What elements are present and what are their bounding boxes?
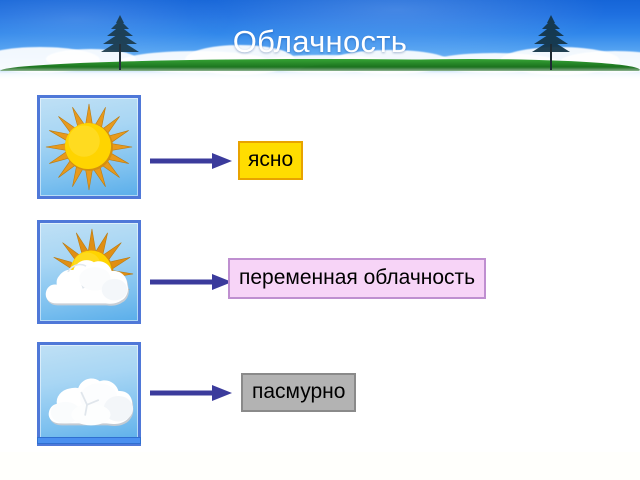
label-clear: ясно	[238, 141, 303, 180]
label-partly-cloudy: переменная облачность	[228, 258, 486, 299]
arrow-overcast	[150, 383, 232, 403]
weather-icon-box-clear	[37, 95, 141, 199]
label-clear-text: ясно	[248, 149, 293, 170]
arrow-partly	[150, 272, 232, 292]
footer-strip	[0, 452, 640, 480]
sun-icon	[40, 98, 138, 196]
arrow-clear	[150, 151, 232, 171]
weather-icon-box-overcast	[37, 342, 141, 446]
weather-icon-box-partly	[37, 220, 141, 324]
sun-behind-cloud-icon	[40, 223, 138, 321]
label-partly-cloudy-text: переменная облачность	[239, 267, 475, 288]
page-title: Облачность	[0, 24, 640, 60]
label-overcast-text: пасмурно	[252, 381, 345, 402]
cloud-shape	[46, 260, 129, 306]
header-banner: Облачность	[0, 0, 640, 79]
cloud-icon	[40, 345, 138, 443]
label-overcast: пасмурно	[241, 373, 356, 412]
slide-nav-chip[interactable]	[37, 437, 141, 444]
